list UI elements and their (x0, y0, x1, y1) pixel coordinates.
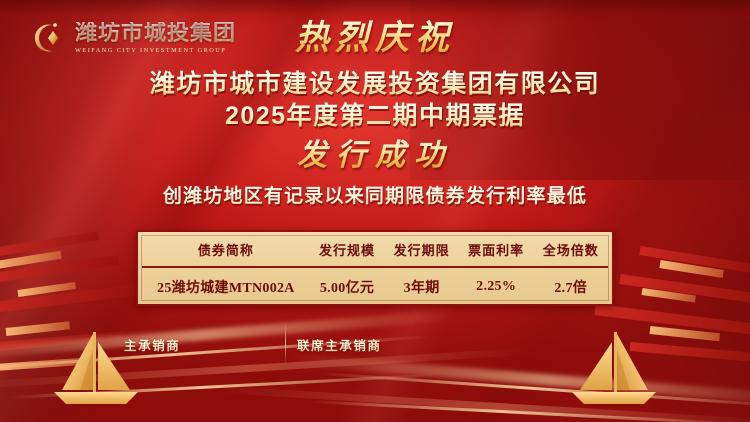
table-row: 25潍坊城建MTN002A 5.00亿元 3年期 2.25% 2.7倍 (142, 267, 608, 302)
td-issue-term: 3年期 (384, 267, 459, 302)
td-subscription-multiple: 2.7倍 (533, 267, 608, 302)
celebration-poster: 潍坊市城投集团 WEIFANG CITY INVESTMENT GROUP 热烈… (0, 0, 750, 422)
underwriters-section: 主承销商 联席主承销商 中信证券 CITIC SECURITIES 中国邮政储蓄… (0, 320, 750, 382)
underwriter-divider (285, 323, 286, 365)
company-name-title: 潍坊市城市建设发展投资集团有限公司 (0, 69, 750, 100)
celebrate-title: 热烈庆祝 (0, 18, 750, 61)
achievement-note: 创潍坊地区有记录以来同期限债券发行利率最低 (0, 181, 750, 208)
success-title: 发行成功 (0, 136, 750, 175)
td-coupon-rate: 2.25% (459, 267, 534, 302)
th-coupon-rate: 票面利率 (459, 234, 534, 267)
table-header-row: 债券简称 发行规模 发行期限 票面利率 全场倍数 (142, 234, 608, 267)
headline-block: 热烈庆祝 潍坊市城市建设发展投资集团有限公司 2025年度第二期中期票据 发行成… (0, 18, 750, 208)
th-subscription-multiple: 全场倍数 (533, 234, 608, 267)
joint-underwriter-label: 联席主承销商 (297, 335, 382, 354)
td-bond-name: 25潍坊城建MTN002A (142, 267, 310, 302)
bond-details-panel: 债券简称 发行规模 发行期限 票面利率 全场倍数 25潍坊城建MTN002A 5… (136, 230, 614, 306)
th-issue-term: 发行期限 (384, 234, 459, 267)
td-issue-size: 5.00亿元 (310, 267, 385, 302)
bond-table: 债券简称 发行规模 发行期限 票面利率 全场倍数 25潍坊城建MTN002A 5… (142, 234, 608, 302)
th-issue-size: 发行规模 (310, 234, 385, 267)
lead-underwriter-label: 主承销商 (124, 335, 180, 354)
issue-subtitle: 2025年度第二期中期票据 (0, 100, 750, 133)
th-bond-name: 债券简称 (142, 234, 310, 267)
